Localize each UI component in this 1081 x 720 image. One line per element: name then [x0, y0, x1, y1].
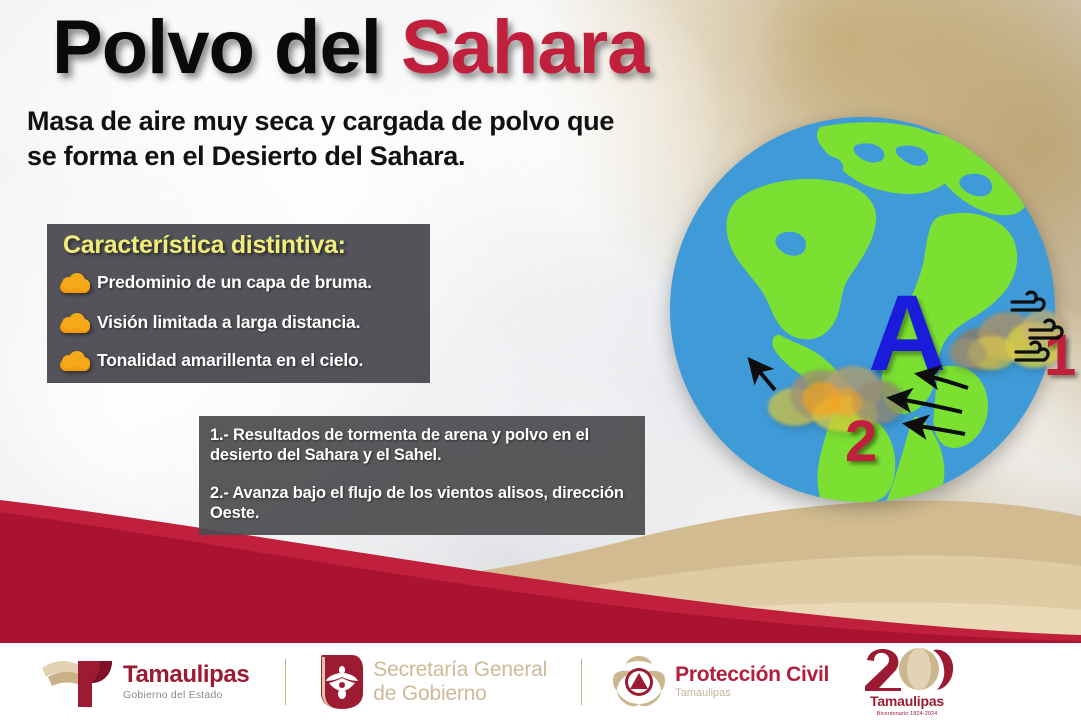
- characteristic-label-1: Predominio de un capa de bruma.: [97, 272, 372, 293]
- proteccion-civil-sublabel: Tamaulipas: [675, 688, 829, 699]
- sgg-label-line1: Secretaría General: [373, 658, 547, 682]
- sgg-shield-icon: [318, 653, 364, 711]
- footer-divider-2: [581, 659, 582, 705]
- cloud-icon: [60, 313, 90, 333]
- anniversary-label: Tamaulipas: [870, 693, 944, 709]
- sgg-label-line2: de Gobierno: [373, 682, 547, 706]
- tamaulipas-label: Tamaulipas: [123, 663, 249, 687]
- wind-swirl-icon-group: [1008, 286, 1074, 368]
- tamaulipas-t-icon: [40, 655, 114, 709]
- anniversary-tiny-label: Bicentenario 1824-2024: [877, 711, 938, 717]
- title-part-dark: Polvo del: [52, 5, 401, 90]
- characteristic-item-3: Tonalidad amarillenta en el cielo.: [60, 350, 363, 371]
- note-item-2: 2.- Avanza bajo el flujo de los vientos …: [210, 483, 638, 523]
- logo-tamaulipas: Tamaulipas Gobierno del Estado: [40, 655, 249, 709]
- footer-bar: Tamaulipas Gobierno del Estado: [0, 643, 1081, 720]
- notes-panel: 1.- Resultados de tormenta de arena y po…: [199, 416, 645, 535]
- characteristic-label-2: Visión limitada a larga distancia.: [97, 312, 360, 333]
- cloud-icon: [60, 351, 90, 371]
- anniversary-20-icon: [859, 646, 955, 692]
- footer-divider-1: [285, 659, 286, 705]
- characteristic-item-2: Visión limitada a larga distancia.: [60, 312, 360, 333]
- characteristics-panel: Característica distintiva: Predominio de…: [47, 224, 430, 383]
- characteristic-label-3: Tonalidad amarillenta en el cielo.: [97, 350, 363, 371]
- anticyclone-letter: A: [868, 279, 946, 387]
- marker-two: 2: [845, 413, 877, 471]
- note-item-1: 1.- Resultados de tormenta de arena y po…: [210, 425, 638, 465]
- poster-title: Polvo del Sahara: [52, 6, 648, 90]
- logo-anniversary: Tamaulipas Bicentenario 1824-2024: [859, 646, 955, 717]
- logo-proteccion-civil: Protección Civil Tamaulipas: [612, 655, 829, 709]
- characteristics-heading: Característica distintiva:: [63, 231, 346, 260]
- tamaulipas-sublabel: Gobierno del Estado: [123, 690, 249, 701]
- logo-secretaria-general: Secretaría General de Gobierno: [318, 653, 547, 711]
- poster-subtitle: Masa de aire muy seca y cargada de polvo…: [27, 104, 627, 174]
- cloud-icon: [60, 273, 90, 293]
- proteccion-civil-label: Protección Civil: [675, 664, 829, 685]
- proteccion-civil-icon: [612, 655, 666, 709]
- infographic-poster: Polvo del Sahara Masa de aire muy seca y…: [0, 0, 1081, 720]
- title-part-red: Sahara: [401, 5, 649, 90]
- characteristic-item-1: Predominio de un capa de bruma.: [60, 272, 372, 293]
